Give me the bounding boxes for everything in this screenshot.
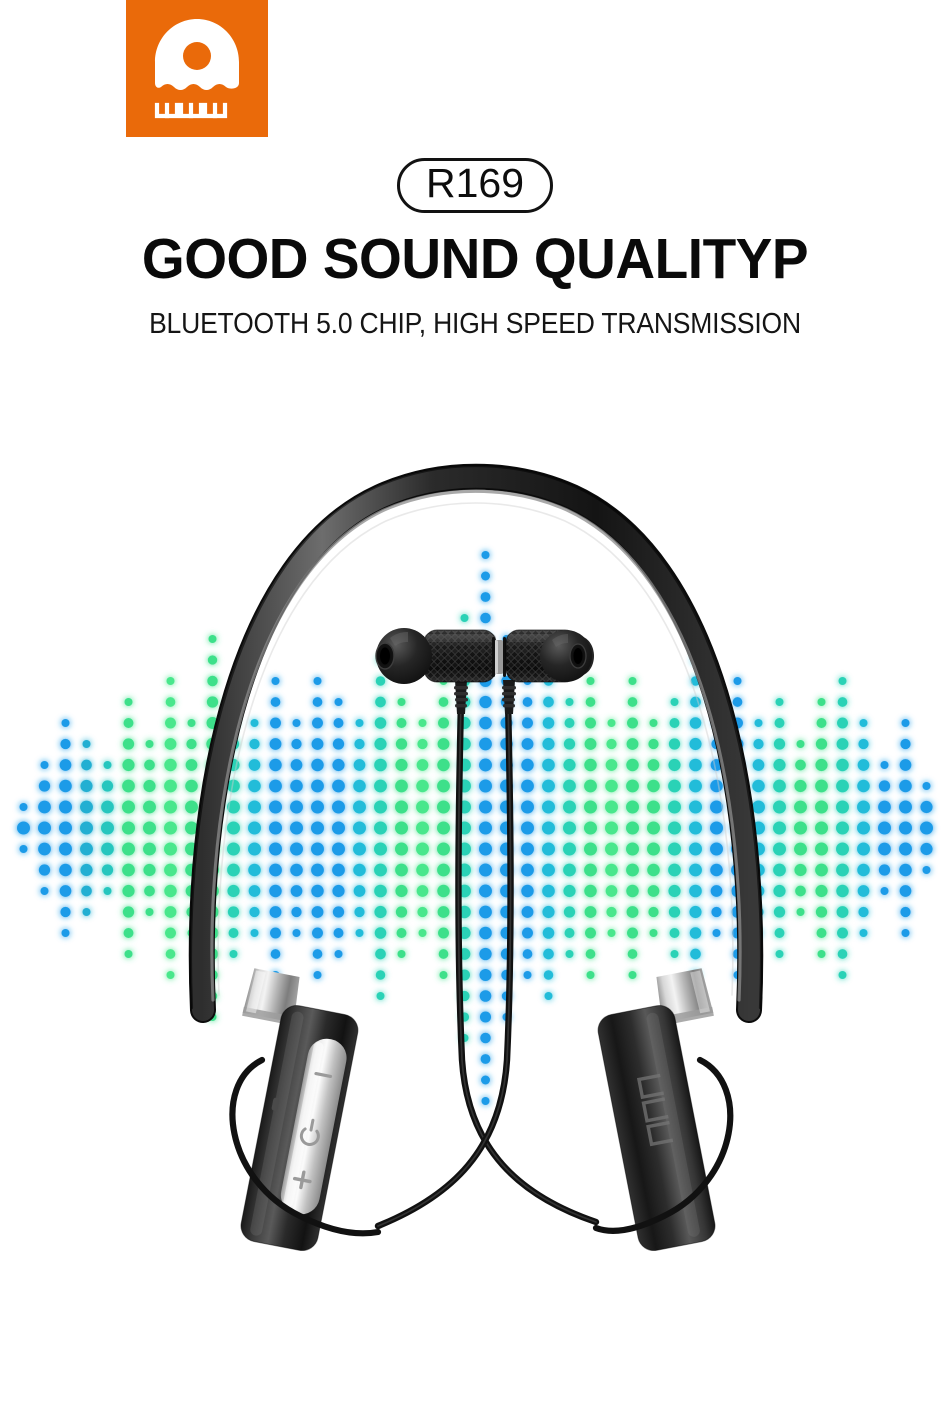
earbud-left-strain-relief <box>454 680 468 714</box>
earbud-pair <box>376 628 594 714</box>
right-control-arm <box>595 968 717 1254</box>
magnetic-clasp <box>492 637 506 677</box>
neckband-earphones-illustration <box>0 0 950 1406</box>
earbud-right-ear-tip <box>540 630 592 682</box>
earbud-left-ear-tip <box>376 628 432 684</box>
product-banner: R169 GOOD SOUND QUALITYP BLUETOOTH 5.0 C… <box>0 0 950 1406</box>
earbud-right-strain-relief <box>502 680 516 714</box>
product-stage <box>0 0 950 1406</box>
neckband-arc <box>191 466 761 1010</box>
earbud-right <box>502 630 594 714</box>
earbud-left <box>376 628 496 714</box>
left-control-arm <box>238 968 360 1254</box>
